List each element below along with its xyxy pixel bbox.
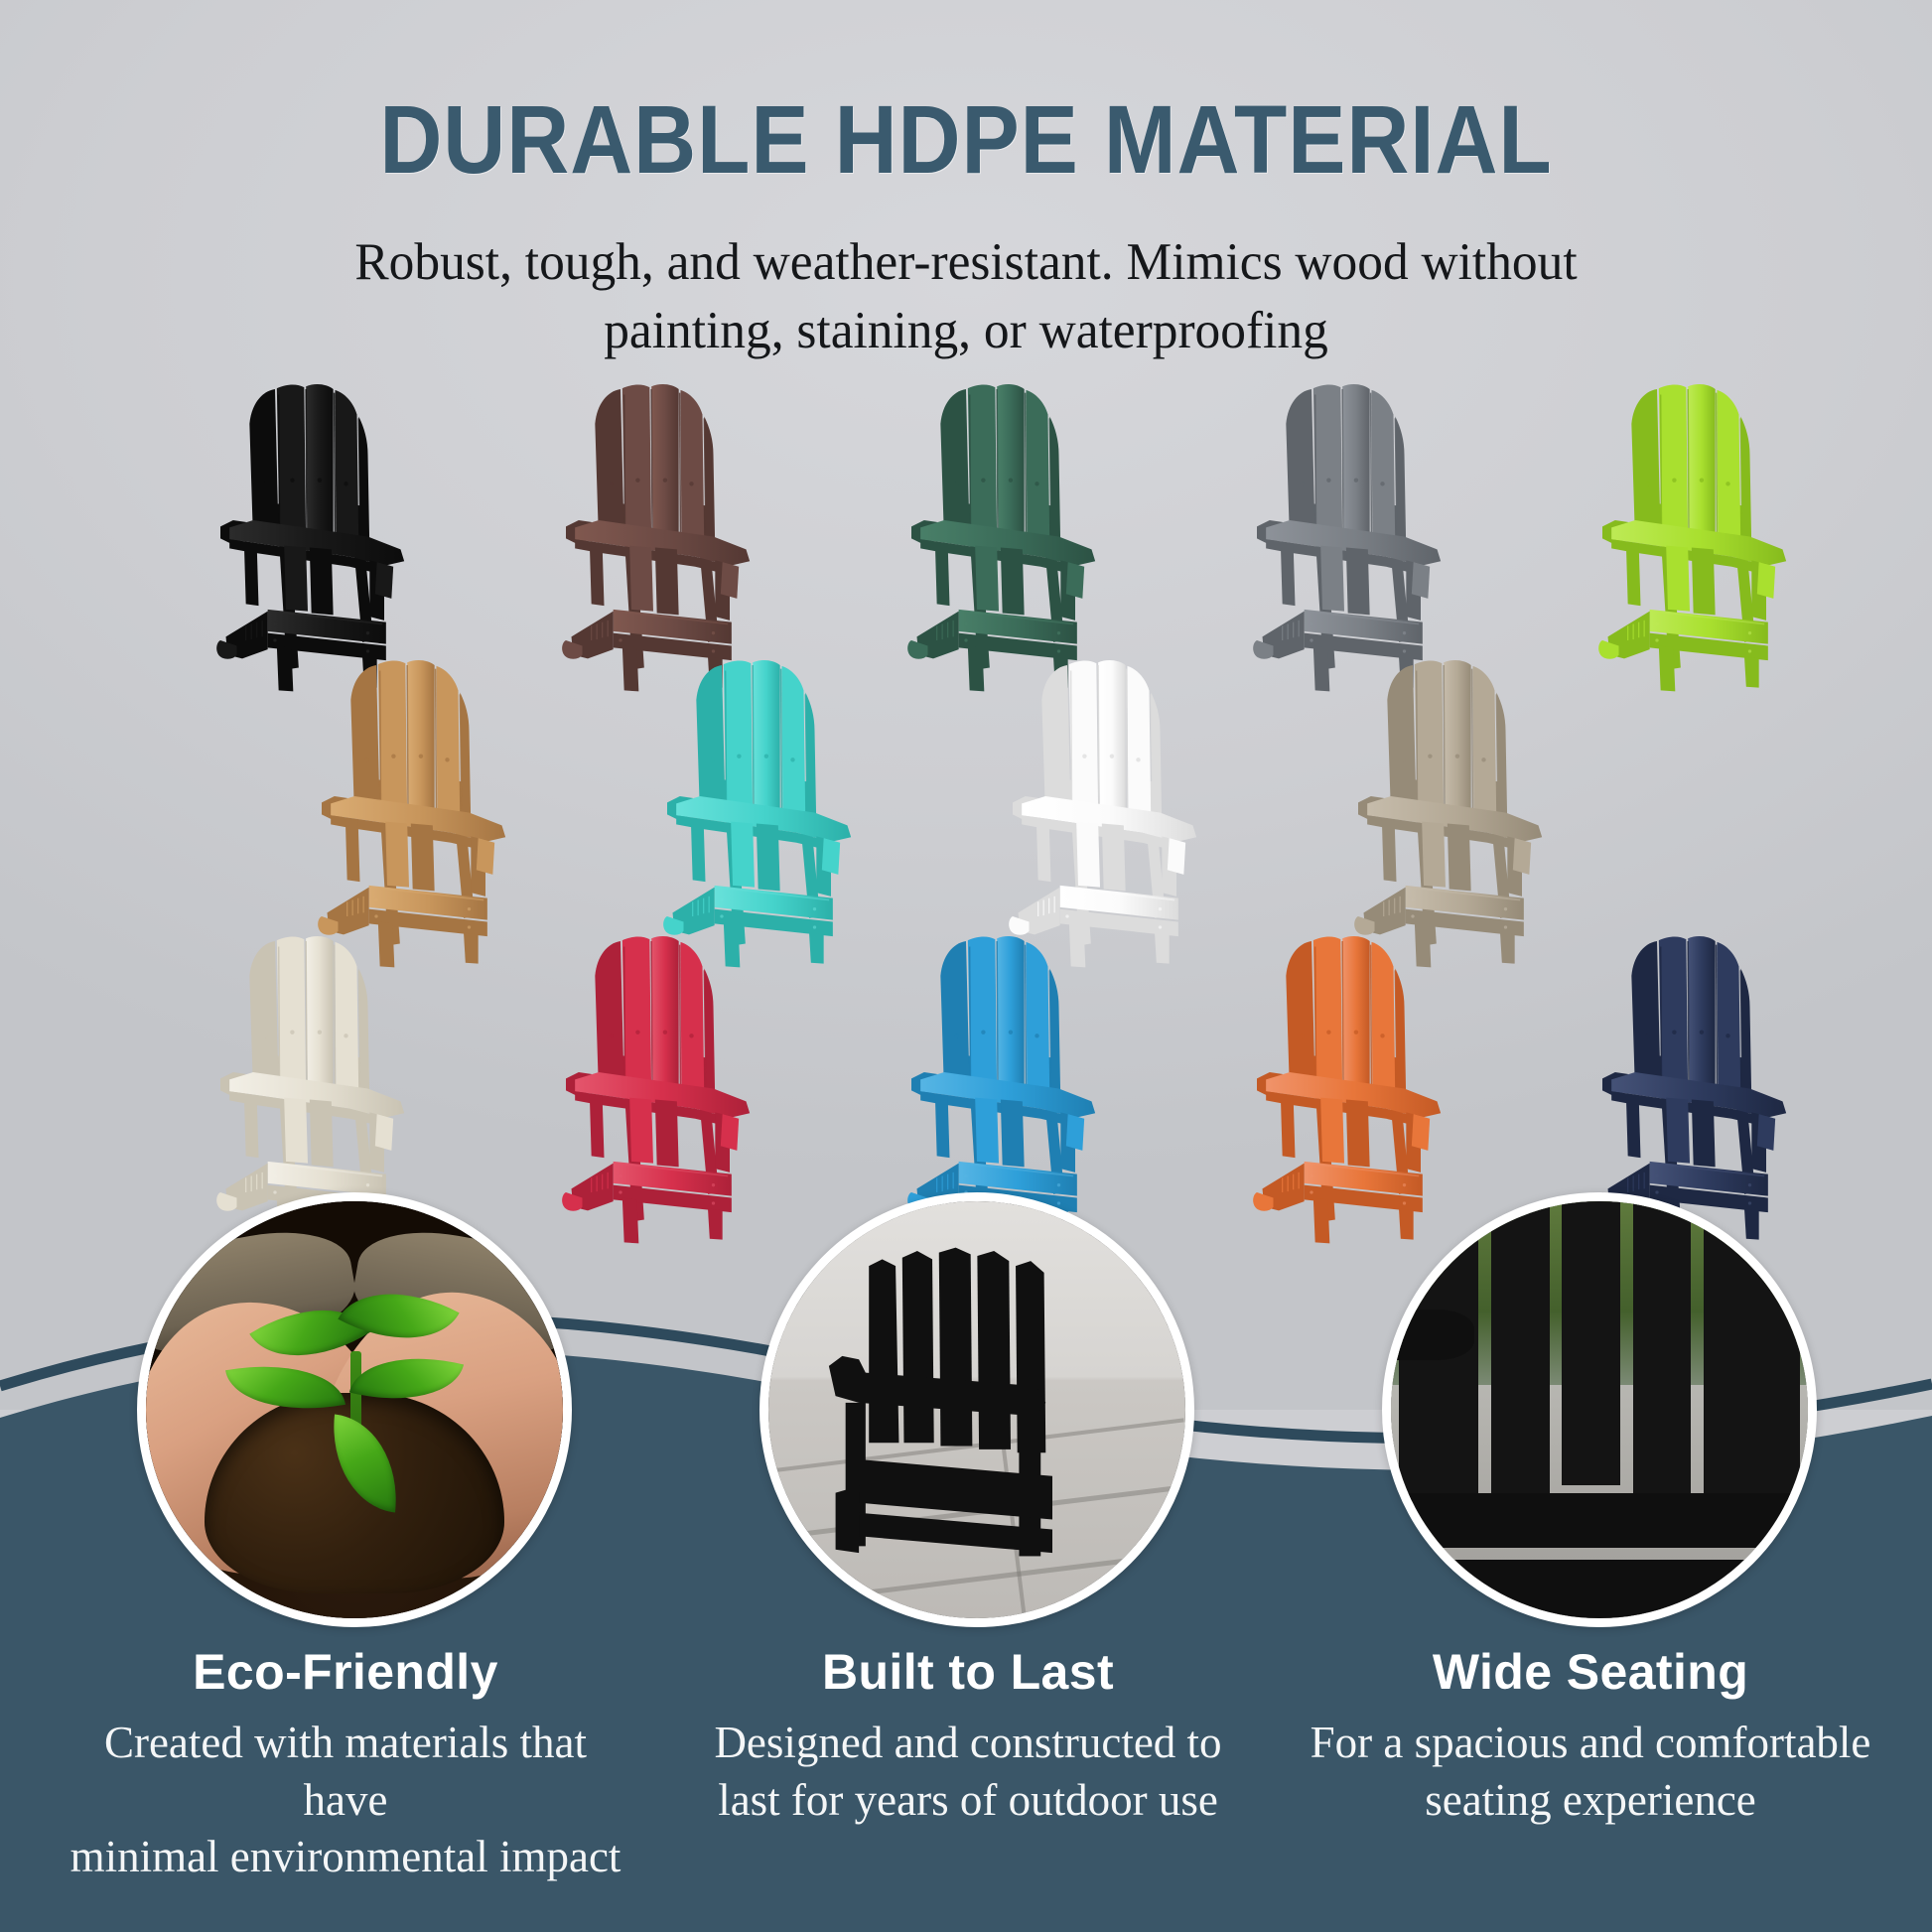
feature-body-wide-seating: For a spacious and comfortable seating e…: [1303, 1715, 1878, 1829]
feature-body-built-to-last: Designed and constructed to last for yea…: [680, 1715, 1256, 1829]
feature-title-eco-friendly: Eco-Friendly: [58, 1643, 633, 1701]
black-chair-on-patio-photo: [768, 1201, 1185, 1618]
feature-caption-eco-friendly: Eco-Friendly Created with materials that…: [58, 1643, 633, 1886]
feature-body-line-1: Created with materials that have: [58, 1715, 633, 1829]
chair-swatch-orange[interactable]: [1195, 919, 1493, 1247]
back-slat-4: [1633, 1192, 1692, 1493]
armrest-left: [1383, 1310, 1474, 1359]
back-slat-5: [1704, 1192, 1800, 1501]
chair-body: [1195, 919, 1493, 1247]
feature-image-eco-friendly: [137, 1192, 572, 1627]
chair-swatch-red[interactable]: [504, 919, 802, 1247]
feature-caption-wide-seating: Wide Seating For a spacious and comforta…: [1303, 1643, 1878, 1829]
patio-chair-silhouette: [802, 1209, 1136, 1609]
feature-body-line-2: minimal environmental impact: [58, 1829, 633, 1886]
hands-holding-seedling-photo: [146, 1201, 563, 1618]
feature-image-built-to-last: [759, 1192, 1194, 1627]
seat-front-rail: [1391, 1493, 1808, 1548]
back-slat-3: [1562, 1192, 1620, 1485]
chair-back-closeup-photo: [1391, 1201, 1808, 1618]
feature-body-line-2: last for years of outdoor use: [680, 1772, 1256, 1830]
feature-title-built-to-last: Built to Last: [680, 1643, 1256, 1701]
back-slat-2: [1491, 1192, 1550, 1493]
chair-graphic: [504, 919, 802, 1247]
feature-caption-built-to-last: Built to Last Designed and constructed t…: [680, 1643, 1256, 1829]
chair-color-grid: [0, 0, 1932, 1281]
feature-body-line-1: Designed and constructed to: [680, 1715, 1256, 1772]
feature-body-line-2: seating experience: [1303, 1772, 1878, 1830]
chair-graphic: [1195, 919, 1493, 1247]
feature-title-wide-seating: Wide Seating: [1303, 1643, 1878, 1701]
feature-image-wide-seating: [1382, 1192, 1817, 1627]
feature-body-eco-friendly: Created with materials that have minimal…: [58, 1715, 633, 1886]
seat-lower-rail: [1391, 1560, 1808, 1618]
feature-body-line-1: For a spacious and comfortable: [1303, 1715, 1878, 1772]
chair-body: [504, 919, 802, 1247]
